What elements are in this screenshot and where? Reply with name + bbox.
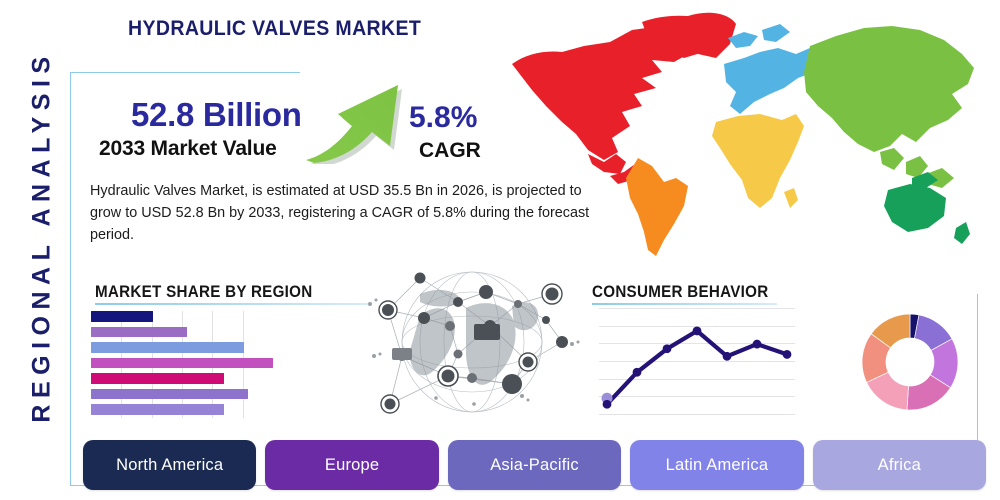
bar-chart-bars [91, 311, 273, 415]
bar-4 [91, 358, 273, 369]
bar-6 [91, 389, 248, 400]
region-button-asia-pacific[interactable]: Asia-Pacific [448, 440, 621, 490]
section-rule-consumer-behavior [592, 303, 777, 305]
market-value-figure: 52.8 Billion [131, 96, 302, 134]
section-rule-market-share [95, 303, 370, 305]
market-share-bar-chart [91, 311, 273, 415]
bar-2 [91, 327, 187, 338]
region-legend-buttons[interactable]: North AmericaEuropeAsia-PacificLatin Ame… [83, 440, 986, 490]
section-title-market-share: MARKET SHARE BY REGION [95, 283, 312, 302]
section-title-consumer-behavior: CONSUMER BEHAVIOR [592, 283, 768, 302]
bar-3 [91, 342, 244, 353]
network-globe-icon [362, 264, 584, 422]
data-point-6 [753, 340, 762, 349]
world-map-icon [492, 2, 998, 267]
infographic-root: REGIONAL ANALYSIS HYDRAULIC VALVES MARKE… [0, 0, 1000, 500]
gridline [599, 414, 795, 415]
data-point-1 [603, 400, 612, 409]
line-chart-plot [599, 308, 795, 414]
data-point-7 [783, 350, 792, 359]
data-point-2 [633, 368, 642, 377]
region-button-label: Asia-Pacific [490, 456, 579, 475]
region-button-label: North America [116, 456, 223, 475]
data-point-3 [663, 344, 672, 353]
cagr-figure: 5.8% [409, 101, 477, 135]
bar-1 [91, 311, 153, 322]
bar-7 [91, 404, 224, 415]
region-button-latin-america[interactable]: Latin America [630, 440, 803, 490]
region-button-africa[interactable]: Africa [813, 440, 986, 490]
page-title: HYDRAULIC VALVES MARKET [128, 17, 421, 41]
region-button-europe[interactable]: Europe [265, 440, 438, 490]
growth-arrow-icon [302, 82, 412, 164]
region-button-label: Africa [878, 456, 921, 475]
market-value-caption: 2033 Market Value [99, 137, 277, 161]
consumer-behavior-line-chart [599, 308, 795, 414]
region-button-label: Europe [325, 456, 379, 475]
data-point-4 [693, 327, 702, 336]
cagr-caption: CAGR [419, 139, 481, 163]
region-button-label: Latin America [666, 456, 769, 475]
region-button-north-america[interactable]: North America [83, 440, 256, 490]
vertical-section-label: REGIONAL ANALYSIS [28, 27, 57, 447]
segment-donut-chart [856, 308, 964, 416]
data-point-5 [723, 352, 732, 361]
bar-5 [91, 373, 224, 384]
